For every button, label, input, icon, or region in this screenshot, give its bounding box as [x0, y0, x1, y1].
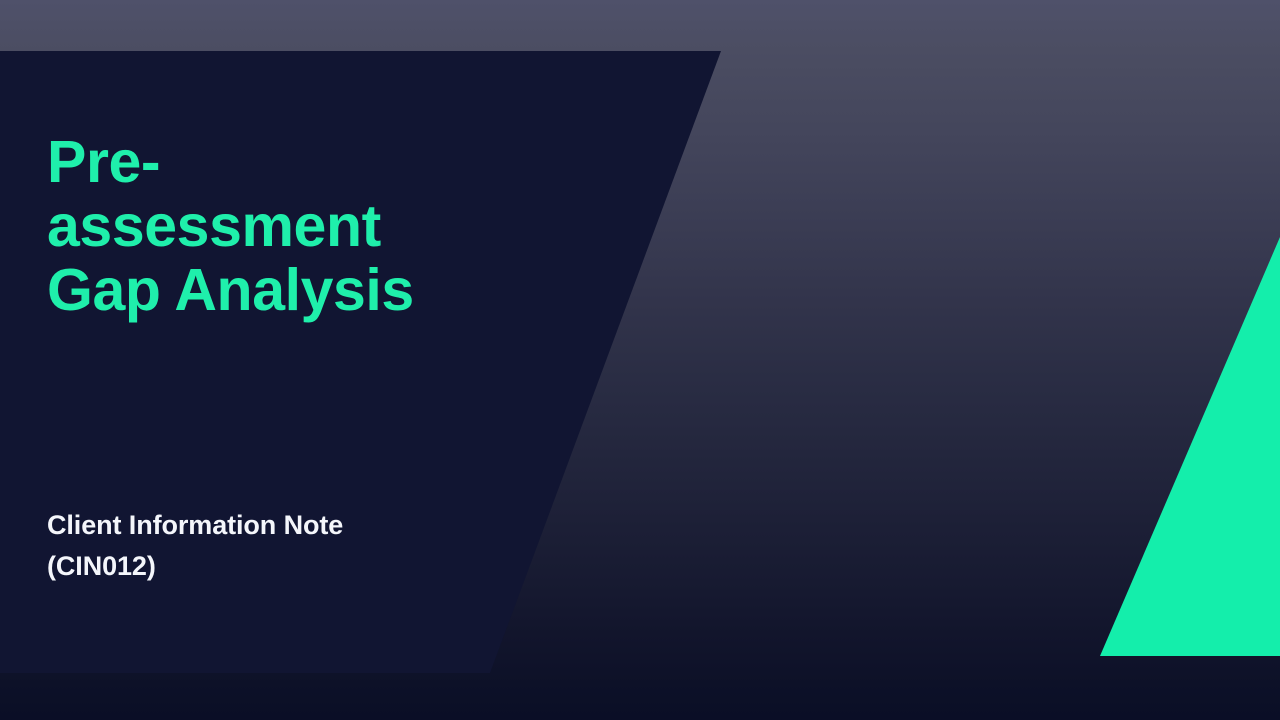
page-title-line-2: Gap Analysis [47, 257, 414, 323]
title-slide: Pre-assessment Gap Analysis Client Infor… [0, 0, 1280, 720]
page-subtitle-line-2: (CIN012) [47, 551, 156, 581]
page-subtitle: Client Information Note (CIN012) [47, 505, 477, 587]
page-subtitle-line-1: Client Information Note [47, 510, 343, 540]
page-title: Pre-assessment Gap Analysis [47, 130, 487, 322]
title-text-block: Pre-assessment Gap Analysis Client Infor… [47, 0, 477, 720]
page-title-line-1: Pre-assessment [47, 129, 381, 259]
